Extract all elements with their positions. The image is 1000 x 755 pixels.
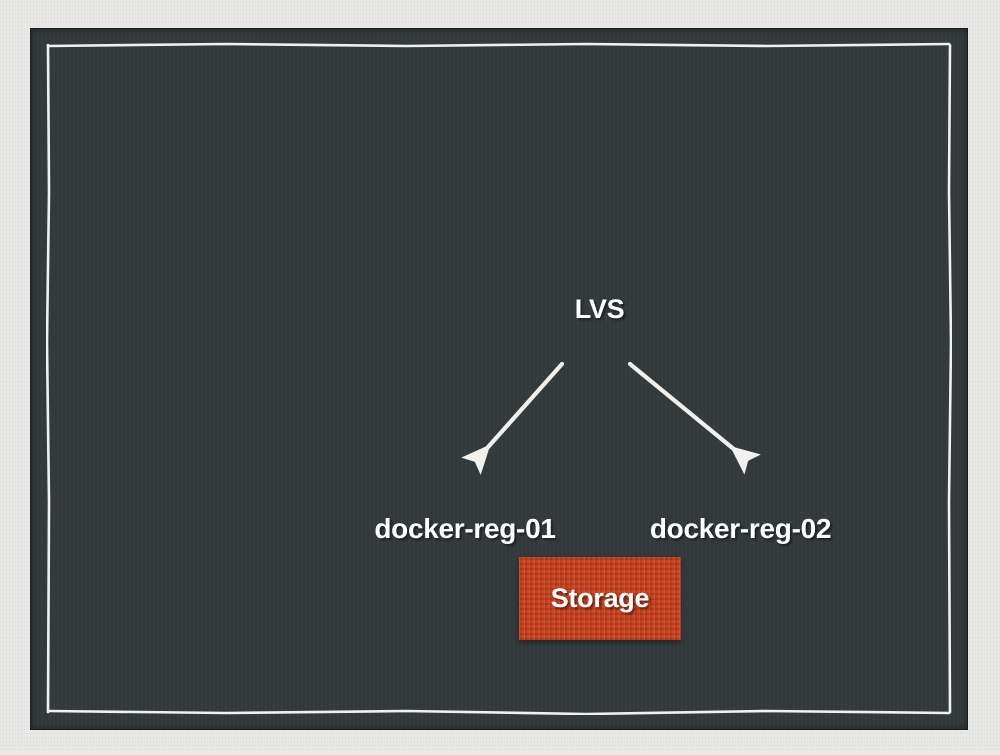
slide-board [30, 28, 968, 730]
diagram-node-storage[interactable]: Storage [519, 557, 681, 640]
diagram-node-docker-reg-01-label: docker-reg-01 [374, 513, 555, 545]
board-edge [30, 28, 968, 730]
inner-chalk-frame [46, 42, 952, 715]
diagram-node-lvs-label: LVS [575, 294, 625, 325]
diagram-node-storage-label: Storage [551, 583, 649, 614]
slide-root: Containerized infrastructure Registry Ha… [0, 0, 1000, 750]
diagram-node-docker-reg-02-label: docker-reg-02 [650, 513, 831, 545]
